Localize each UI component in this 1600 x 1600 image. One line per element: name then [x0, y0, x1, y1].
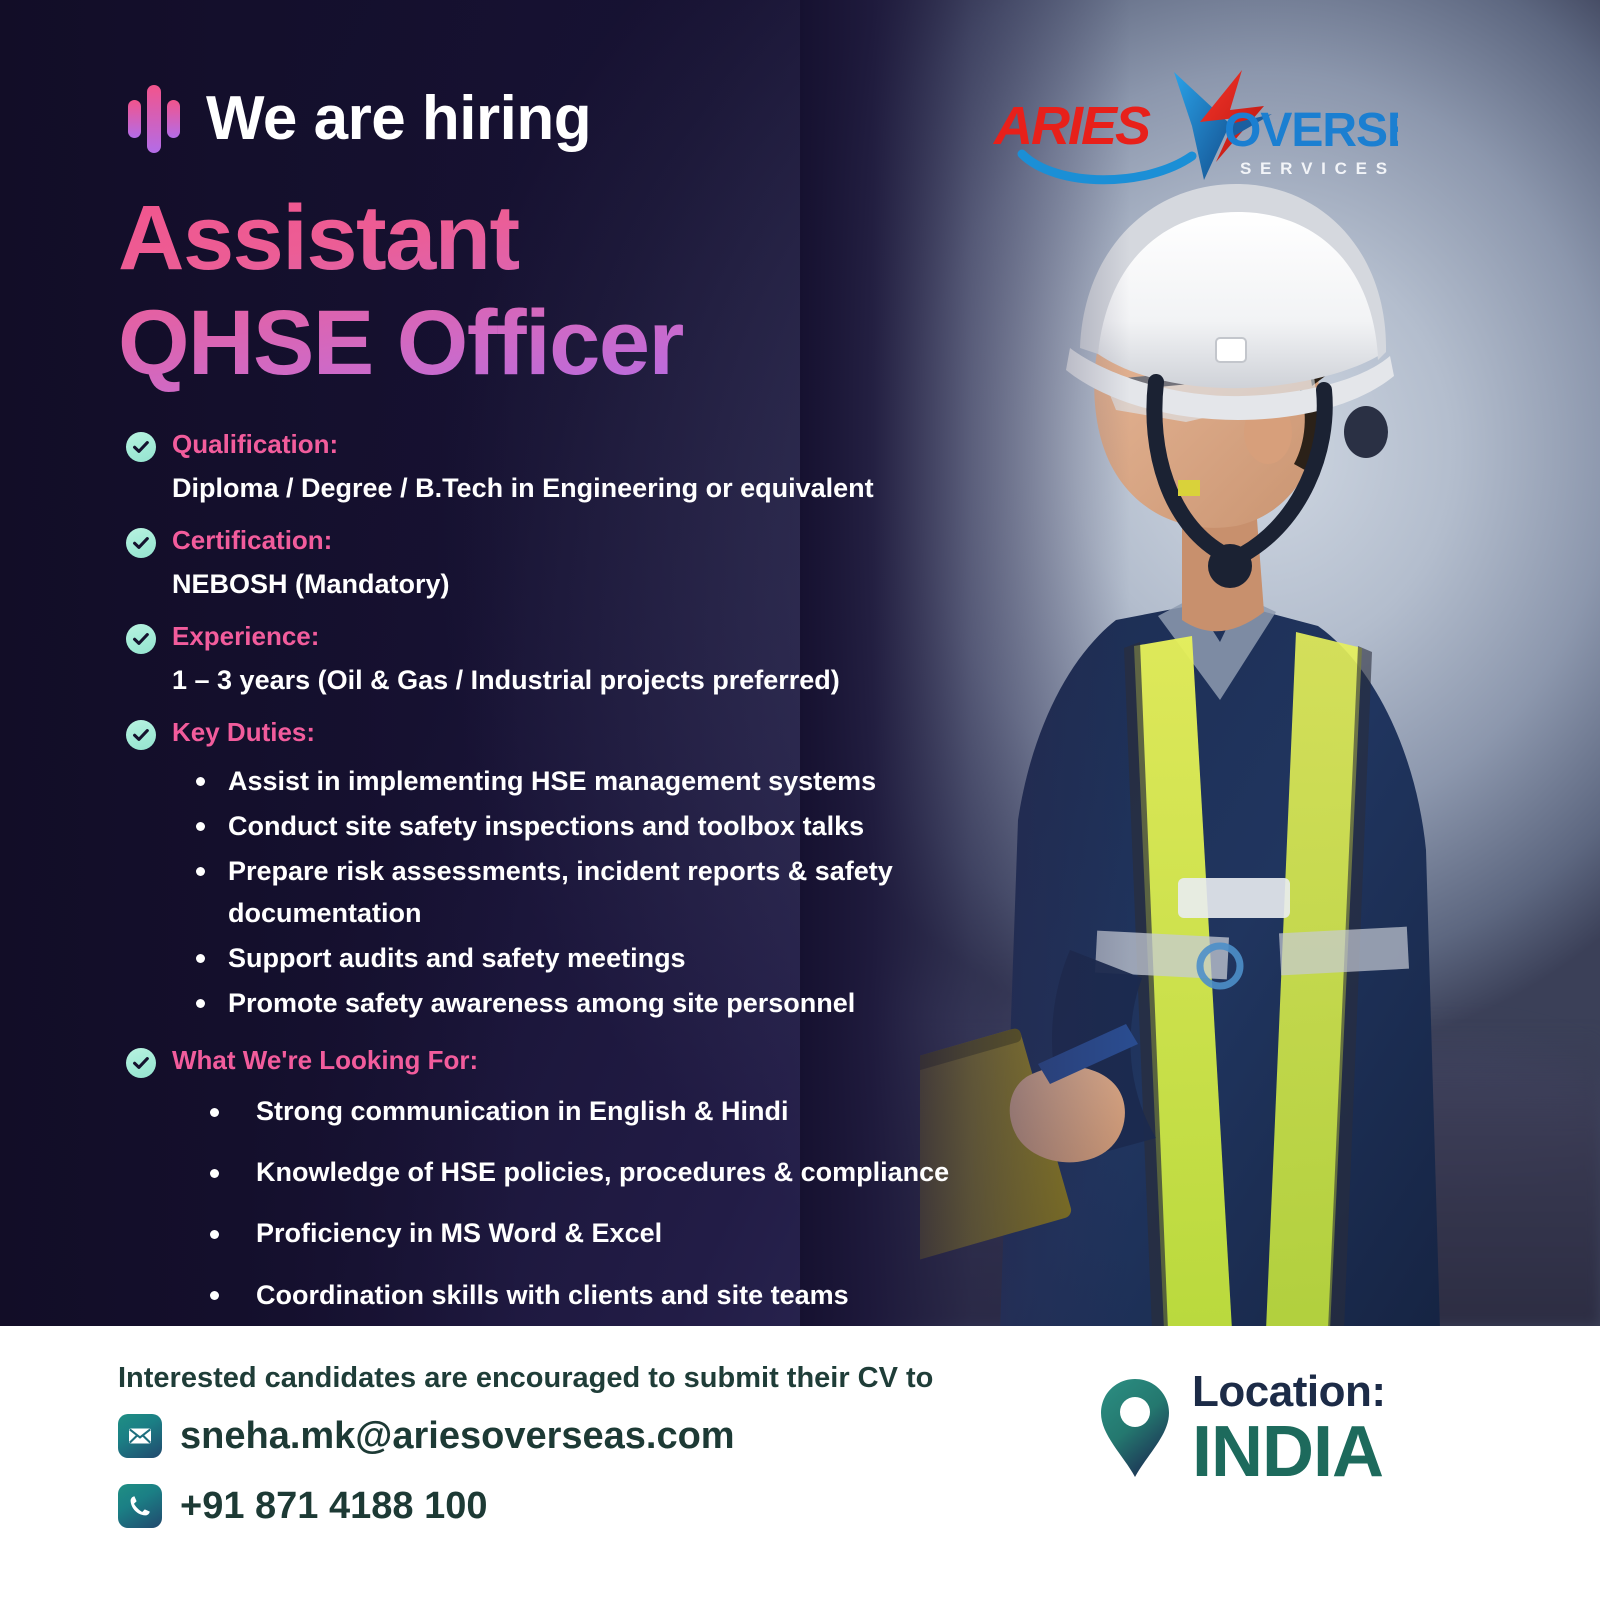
section-experience: Experience: 1 – 3 years (Oil & Gas / Ind…	[126, 620, 956, 698]
phone-icon	[118, 1484, 162, 1528]
section-header: Qualification:	[126, 428, 956, 462]
apply-instruction: Interested candidates are encouraged to …	[118, 1362, 933, 1395]
looking-for-list: Strong communication in English & Hindi …	[204, 1094, 956, 1312]
location-block: Location: INDIA	[1098, 1370, 1385, 1488]
email-address: sneha.mk@ariesoverseas.com	[180, 1415, 735, 1458]
list-item: Conduct site safety inspections and tool…	[190, 805, 956, 848]
list-item: Support audits and safety meetings	[190, 937, 956, 980]
list-item: Prepare risk assessments, incident repor…	[190, 850, 956, 935]
requirements-list: Qualification: Diploma / Degree / B.Tech…	[126, 428, 956, 1326]
page-title: Assistant QHSE Officer	[118, 186, 1018, 396]
check-circle-icon	[126, 624, 156, 654]
section-body: Diploma / Degree / B.Tech in Engineering…	[172, 471, 956, 506]
section-label: Qualification:	[172, 428, 338, 462]
section-header: Key Duties:	[126, 716, 956, 750]
logo-brand-primary: ARIES	[992, 96, 1151, 156]
location-label: Location:	[1192, 1370, 1385, 1414]
job-poster: ARIES OVERSEAS S E R V I C E S	[0, 0, 1600, 1600]
section-label: Experience:	[172, 620, 319, 654]
phone-contact[interactable]: +91 871 4188 100	[118, 1484, 487, 1528]
list-item: Assist in implementing HSE management sy…	[190, 760, 956, 803]
we-are-hiring-row: We are hiring	[128, 84, 591, 154]
location-value: INDIA	[1192, 1416, 1385, 1488]
job-title-line2: QHSE Officer	[118, 291, 1018, 396]
section-header: Certification:	[126, 524, 956, 558]
we-are-hiring-label: We are hiring	[206, 88, 591, 150]
company-logo: ARIES OVERSEAS S E R V I C E S	[978, 62, 1398, 192]
footer-section: Interested candidates are encouraged to …	[0, 1326, 1600, 1600]
map-pin-icon	[1098, 1377, 1172, 1481]
phone-number: +91 871 4188 100	[180, 1485, 487, 1528]
hero-section: ARIES OVERSEAS S E R V I C E S	[0, 0, 1600, 1326]
check-circle-icon	[126, 720, 156, 750]
email-contact[interactable]: sneha.mk@ariesoverseas.com	[118, 1414, 735, 1458]
section-certification: Certification: NEBOSH (Mandatory)	[126, 524, 956, 602]
section-body: NEBOSH (Mandatory)	[172, 567, 956, 602]
check-circle-icon	[126, 432, 156, 462]
key-duties-list: Assist in implementing HSE management sy…	[190, 760, 956, 1024]
job-title-line1: Assistant	[118, 186, 1018, 291]
section-body: 1 – 3 years (Oil & Gas / Industrial proj…	[172, 663, 956, 698]
list-item: Promote safety awareness among site pers…	[190, 982, 956, 1025]
section-label: What We're Looking For:	[172, 1044, 478, 1078]
section-qualification: Qualification: Diploma / Degree / B.Tech…	[126, 428, 956, 506]
section-label: Certification:	[172, 524, 332, 558]
list-item: Coordination skills with clients and sit…	[204, 1278, 956, 1313]
list-item: Strong communication in English & Hindi	[204, 1094, 956, 1129]
section-header: Experience:	[126, 620, 956, 654]
envelope-icon	[118, 1414, 162, 1458]
section-label: Key Duties:	[172, 716, 315, 750]
check-circle-icon	[126, 1048, 156, 1078]
list-item: Knowledge of HSE policies, procedures & …	[204, 1155, 956, 1190]
logo-brand-tagline: S E R V I C E S	[1240, 159, 1389, 178]
section-header: What We're Looking For:	[126, 1044, 956, 1078]
list-item: Proficiency in MS Word & Excel	[204, 1216, 956, 1251]
location-text: Location: INDIA	[1192, 1370, 1385, 1488]
equalizer-bars-icon	[128, 84, 180, 154]
logo-brand-secondary: OVERSEAS	[1224, 104, 1398, 157]
section-key-duties: Key Duties: Assist in implementing HSE m…	[126, 716, 956, 1024]
section-what-were-looking-for: What We're Looking For: Strong communica…	[126, 1044, 956, 1312]
check-circle-icon	[126, 528, 156, 558]
